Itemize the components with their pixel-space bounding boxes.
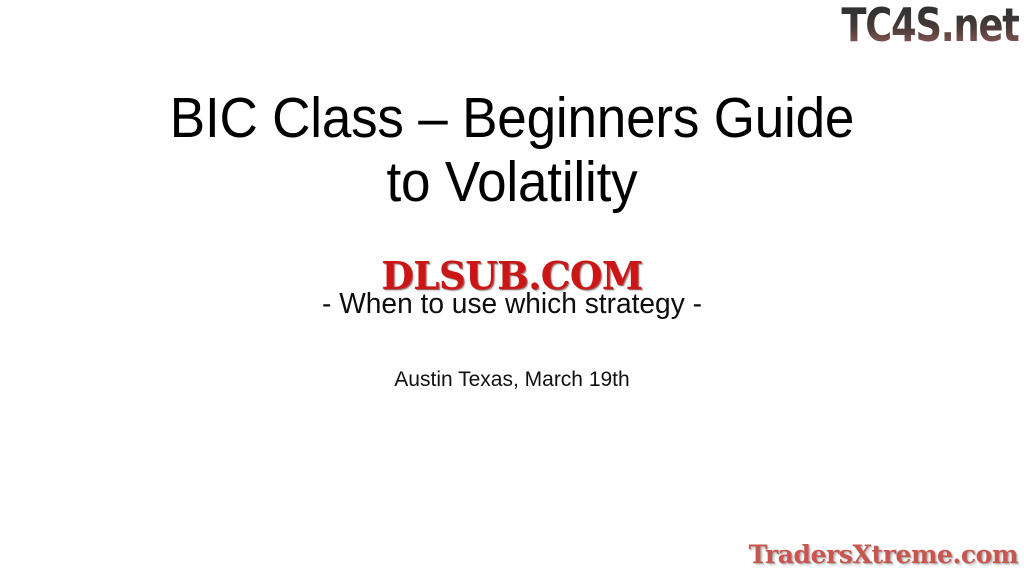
slide-title: BIC Class – Beginners Guide to Volatilit… [36,86,988,214]
tc4s-logo: TC4S.net [842,1,1019,49]
tradersxtreme-watermark: TradersXtreme.com [749,540,1018,570]
slide-title-line-1: BIC Class – Beginners Guide [36,86,988,150]
slide-title-line-2: to Volatility [36,150,988,214]
slide-event-date: Austin Texas, March 19th [0,367,1024,393]
presentation-slide: TC4S.net BIC Class – Beginners Guide to … [0,0,1024,576]
dlsub-watermark: DLSUB.COM [381,255,642,297]
